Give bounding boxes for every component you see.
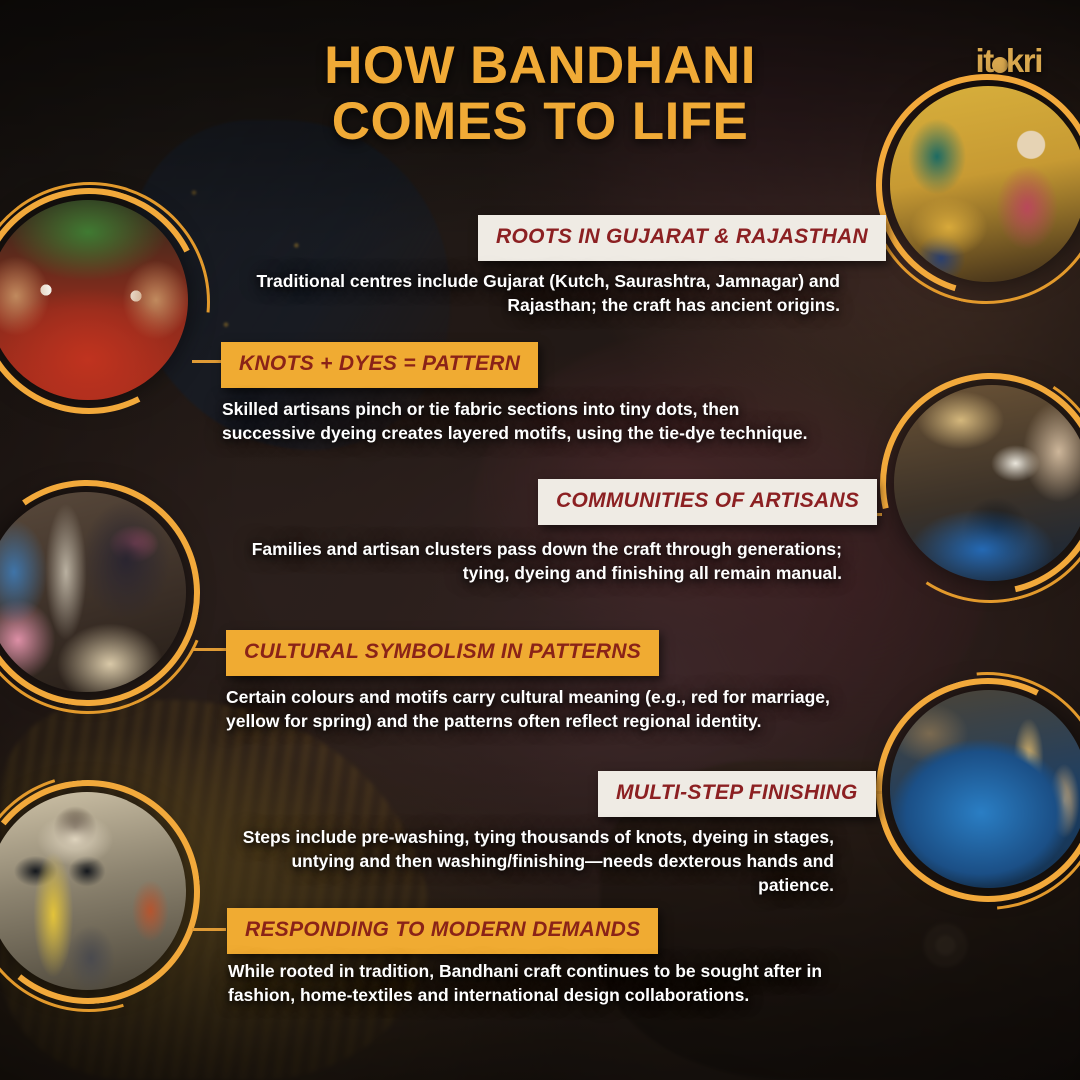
section-heading-6-label: RESPONDING TO MODERN DEMANDS (245, 918, 640, 942)
section-body-4: Certain colours and motifs carry cultura… (226, 686, 838, 734)
section-heading-5-label: MULTI-STEP FINISHING (616, 781, 858, 805)
section-body-1: Traditional centres include Gujarat (Kut… (220, 270, 840, 318)
section-body-5: Steps include pre-washing, tying thousan… (222, 826, 834, 898)
section-body-3: Families and artisan clusters pass down … (230, 538, 842, 586)
photo-hands-tying-red-image (0, 200, 188, 400)
photo-yellow-fabric-dip-image (0, 792, 186, 990)
photo-indigo-bundles-image (890, 690, 1080, 888)
photo-yellow-fabric-dip (0, 792, 186, 990)
section-heading-2[interactable]: KNOTS + DYES = PATTERN (221, 342, 538, 388)
photo-women-tying-yellow (890, 86, 1080, 282)
connector-line-4 (192, 648, 226, 651)
photo-dyer-blue-vat (894, 385, 1080, 581)
logo-text-after: kri (1006, 42, 1042, 79)
section-heading-2-label: KNOTS + DYES = PATTERN (239, 352, 520, 376)
section-heading-1[interactable]: ROOTS IN GUJARAT & RAJASTHAN (478, 215, 886, 261)
section-heading-4[interactable]: CULTURAL SYMBOLISM IN PATTERNS (226, 630, 659, 676)
logo-text-before: it (975, 42, 992, 79)
section-heading-4-label: CULTURAL SYMBOLISM IN PATTERNS (244, 640, 641, 664)
section-heading-5[interactable]: MULTI-STEP FINISHING (598, 771, 876, 817)
brand-logo[interactable]: itkri (975, 42, 1042, 80)
section-heading-3-label: COMMUNITIES OF ARTISANS (556, 489, 859, 513)
photo-woman-black-scarf (0, 492, 186, 692)
section-heading-1-label: ROOTS IN GUJARAT & RAJASTHAN (496, 225, 868, 249)
photo-dyer-blue-vat-image (894, 385, 1080, 581)
photo-woman-black-scarf-image (0, 492, 186, 692)
photo-hands-tying-red (0, 200, 188, 400)
section-body-6: While rooted in tradition, Bandhani craf… (228, 960, 828, 1008)
section-heading-3[interactable]: COMMUNITIES OF ARTISANS (538, 479, 877, 525)
connector-line-6 (192, 928, 226, 931)
photo-women-tying-yellow-image (890, 86, 1080, 282)
section-body-2: Skilled artisans pinch or tie fabric sec… (222, 398, 834, 446)
photo-indigo-bundles (890, 690, 1080, 888)
section-heading-6[interactable]: RESPONDING TO MODERN DEMANDS (227, 908, 658, 954)
